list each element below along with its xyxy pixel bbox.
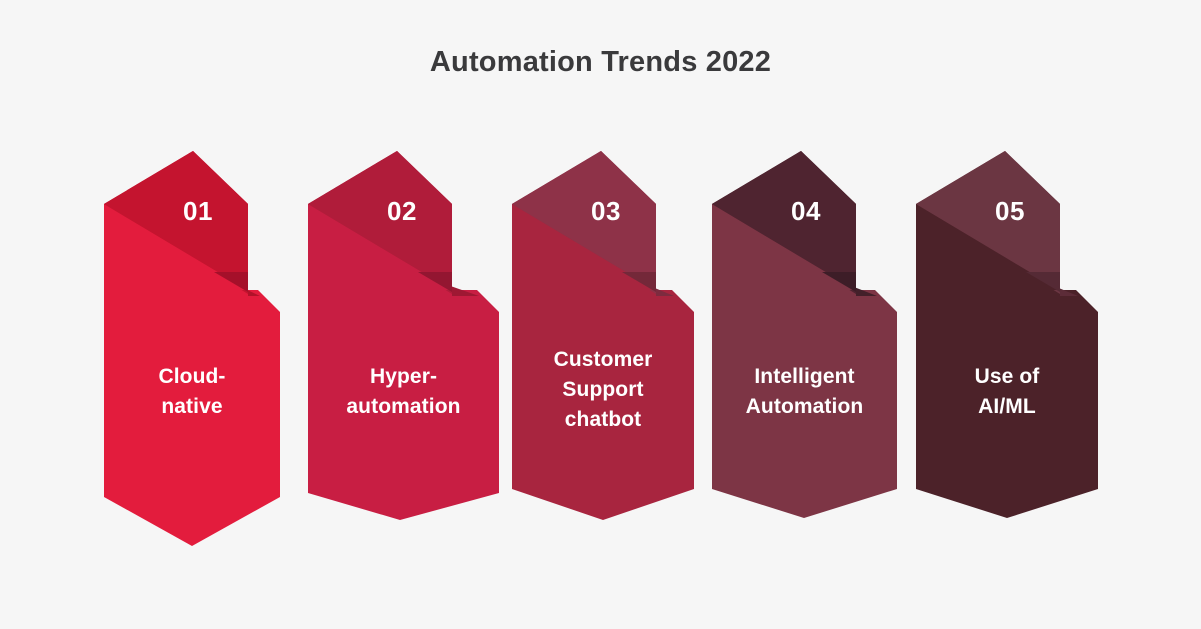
trend-shape-05 xyxy=(0,0,1201,629)
infographic-root: Automation Trends 2022 01Cloud- native02… xyxy=(0,0,1201,629)
step-number-05: 05 xyxy=(916,198,1060,224)
trend-step-05[interactable]: 05Use of AI/ML xyxy=(0,0,1201,629)
trend-chart: 01Cloud- native02Hyper- automation03Cust… xyxy=(0,0,1201,629)
step-label-05: Use of AI/ML xyxy=(916,362,1098,422)
